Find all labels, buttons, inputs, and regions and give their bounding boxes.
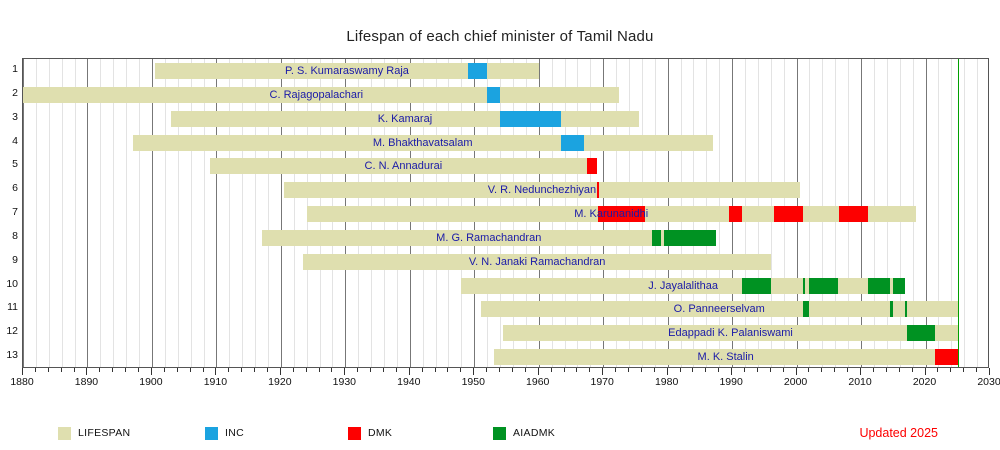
chart-row: O. Panneerselvam bbox=[23, 297, 988, 321]
term-segment-aiadmk[interactable] bbox=[664, 230, 716, 246]
lifespan-bar[interactable] bbox=[481, 301, 958, 317]
term-segment-dmk[interactable] bbox=[935, 349, 958, 365]
row-index-label: 12 bbox=[0, 325, 18, 337]
chart-row: Edappadi K. Palaniswami bbox=[23, 321, 988, 345]
lifespan-bar[interactable] bbox=[210, 158, 597, 174]
x-tick-minor bbox=[808, 368, 809, 372]
x-tick-major bbox=[667, 368, 668, 375]
x-tick-minor bbox=[370, 368, 371, 372]
x-tick-minor bbox=[61, 368, 62, 372]
chart-row: V. N. Janaki Ramachandran bbox=[23, 250, 988, 274]
x-tick-major bbox=[409, 368, 410, 375]
legend-swatch-icon bbox=[348, 427, 361, 440]
term-segment-dmk[interactable] bbox=[597, 182, 599, 198]
x-tick-minor bbox=[177, 368, 178, 372]
x-tick-minor bbox=[551, 368, 552, 372]
x-tick-label: 1890 bbox=[66, 376, 106, 388]
term-segment-inc[interactable] bbox=[487, 87, 500, 103]
x-tick-minor bbox=[357, 368, 358, 372]
legend-label: INC bbox=[225, 427, 244, 439]
x-tick-major bbox=[344, 368, 345, 375]
legend-label: LIFESPAN bbox=[78, 427, 130, 439]
term-segment-dmk[interactable] bbox=[587, 158, 597, 174]
lifespan-bar[interactable] bbox=[503, 325, 957, 341]
lifespan-bar[interactable] bbox=[303, 254, 770, 270]
marker-line-2025 bbox=[958, 59, 960, 367]
x-tick-major bbox=[796, 368, 797, 375]
x-tick-minor bbox=[628, 368, 629, 372]
legend-item-lifespan[interactable]: LIFESPAN bbox=[58, 424, 130, 442]
legend-swatch-icon bbox=[205, 427, 218, 440]
x-tick-minor bbox=[963, 368, 964, 372]
legend-label: AIADMK bbox=[513, 427, 555, 439]
x-axis bbox=[22, 368, 989, 376]
term-segment-inc[interactable] bbox=[561, 135, 584, 151]
x-tick-minor bbox=[241, 368, 242, 372]
term-segment-aiadmk[interactable] bbox=[905, 301, 908, 317]
term-segment-dmk[interactable] bbox=[729, 206, 742, 222]
x-tick-label: 2020 bbox=[905, 376, 945, 388]
x-tick-minor bbox=[525, 368, 526, 372]
row-index-label: 7 bbox=[0, 206, 18, 218]
x-tick-minor bbox=[615, 368, 616, 372]
x-tick-minor bbox=[138, 368, 139, 372]
term-segment-aiadmk[interactable] bbox=[890, 301, 893, 317]
x-tick-minor bbox=[950, 368, 951, 372]
x-tick-minor bbox=[705, 368, 706, 372]
term-segment-aiadmk[interactable] bbox=[907, 325, 934, 341]
x-tick-minor bbox=[267, 368, 268, 372]
x-tick-minor bbox=[847, 368, 848, 372]
row-index-label: 4 bbox=[0, 135, 18, 147]
x-tick-label: 1980 bbox=[647, 376, 687, 388]
x-tick-major bbox=[86, 368, 87, 375]
legend-label: DMK bbox=[368, 427, 392, 439]
term-segment-inc[interactable] bbox=[500, 111, 561, 127]
x-tick-minor bbox=[680, 368, 681, 372]
lifespan-bar[interactable] bbox=[22, 87, 619, 103]
x-tick-minor bbox=[899, 368, 900, 372]
x-tick-minor bbox=[576, 368, 577, 372]
x-tick-major bbox=[860, 368, 861, 375]
x-tick-minor bbox=[422, 368, 423, 372]
x-tick-label: 1900 bbox=[131, 376, 171, 388]
x-tick-minor bbox=[744, 368, 745, 372]
legend-swatch-icon bbox=[58, 427, 71, 440]
lifespan-bar[interactable] bbox=[133, 135, 713, 151]
lifespan-bar[interactable] bbox=[262, 230, 716, 246]
legend-item-dmk[interactable]: DMK bbox=[348, 424, 392, 442]
x-tick-minor bbox=[203, 368, 204, 372]
x-tick-major bbox=[473, 368, 474, 375]
term-segment-inc[interactable] bbox=[468, 63, 487, 79]
lifespan-gantt-chart: Lifespan of each chief minister of Tamil… bbox=[0, 0, 1000, 450]
x-tick-major bbox=[925, 368, 926, 375]
x-tick-major bbox=[280, 368, 281, 375]
x-tick-minor bbox=[435, 368, 436, 372]
x-tick-minor bbox=[873, 368, 874, 372]
chart-row: C. Rajagopalachari bbox=[23, 83, 988, 107]
x-tick-label: 2000 bbox=[776, 376, 816, 388]
x-tick-minor bbox=[396, 368, 397, 372]
x-tick-minor bbox=[447, 368, 448, 372]
x-tick-minor bbox=[35, 368, 36, 372]
lifespan-bar[interactable] bbox=[494, 349, 958, 365]
legend-swatch-icon bbox=[493, 427, 506, 440]
x-tick-major bbox=[731, 368, 732, 375]
x-tick-minor bbox=[718, 368, 719, 372]
chart-legend: LIFESPANINCDMKAIADMK bbox=[0, 424, 1000, 446]
x-tick-label: 1940 bbox=[389, 376, 429, 388]
x-tick-minor bbox=[654, 368, 655, 372]
x-tick-minor bbox=[589, 368, 590, 372]
x-tick-minor bbox=[48, 368, 49, 372]
legend-item-aiadmk[interactable]: AIADMK bbox=[493, 424, 555, 442]
x-tick-minor bbox=[383, 368, 384, 372]
chart-row: M. K. Stalin bbox=[23, 345, 988, 368]
x-tick-minor bbox=[499, 368, 500, 372]
x-tick-minor bbox=[331, 368, 332, 372]
chart-row: P. S. Kumaraswamy Raja bbox=[23, 59, 988, 83]
row-index-label: 13 bbox=[0, 349, 18, 361]
lifespan-bar[interactable] bbox=[171, 111, 638, 127]
x-tick-minor bbox=[125, 368, 126, 372]
x-tick-minor bbox=[937, 368, 938, 372]
x-tick-label: 2010 bbox=[840, 376, 880, 388]
x-tick-label: 1910 bbox=[195, 376, 235, 388]
x-tick-minor bbox=[306, 368, 307, 372]
x-tick-minor bbox=[834, 368, 835, 372]
term-segment-aiadmk[interactable] bbox=[868, 278, 891, 294]
term-segment-aiadmk[interactable] bbox=[803, 278, 805, 294]
x-tick-label: 1950 bbox=[453, 376, 493, 388]
x-tick-minor bbox=[770, 368, 771, 372]
row-index-label: 6 bbox=[0, 182, 18, 194]
x-tick-label: 2030 bbox=[969, 376, 1000, 388]
x-tick-minor bbox=[74, 368, 75, 372]
x-tick-minor bbox=[254, 368, 255, 372]
x-tick-minor bbox=[757, 368, 758, 372]
row-index-label: 1 bbox=[0, 63, 18, 75]
x-tick-major bbox=[602, 368, 603, 375]
row-index-label: 3 bbox=[0, 111, 18, 123]
chart-row: M. Bhakthavatsalam bbox=[23, 131, 988, 155]
x-tick-minor bbox=[99, 368, 100, 372]
x-tick-minor bbox=[821, 368, 822, 372]
x-tick-major bbox=[215, 368, 216, 375]
x-tick-label: 1960 bbox=[518, 376, 558, 388]
chart-title: Lifespan of each chief minister of Tamil… bbox=[0, 28, 1000, 45]
chart-row: V. R. Nedunchezhiyan bbox=[23, 178, 988, 202]
x-tick-minor bbox=[460, 368, 461, 372]
term-segment-aiadmk[interactable] bbox=[652, 230, 662, 246]
x-tick-minor bbox=[641, 368, 642, 372]
x-tick-minor bbox=[886, 368, 887, 372]
x-tick-minor bbox=[190, 368, 191, 372]
lifespan-bar[interactable] bbox=[284, 182, 800, 198]
term-segment-aiadmk[interactable] bbox=[893, 278, 905, 294]
row-index-label: 11 bbox=[0, 301, 18, 313]
legend-item-inc[interactable]: INC bbox=[205, 424, 244, 442]
row-index-label: 8 bbox=[0, 230, 18, 242]
chart-row: C. N. Annadurai bbox=[23, 154, 988, 178]
x-tick-minor bbox=[486, 368, 487, 372]
x-tick-minor bbox=[564, 368, 565, 372]
x-tick-minor bbox=[228, 368, 229, 372]
x-tick-minor bbox=[319, 368, 320, 372]
x-tick-major bbox=[22, 368, 23, 375]
row-index-label: 5 bbox=[0, 158, 18, 170]
x-axis-tick-labels: 1880189019001910192019301940195019601970… bbox=[0, 376, 1000, 390]
row-index-label: 10 bbox=[0, 278, 18, 290]
term-segment-dmk[interactable] bbox=[839, 206, 868, 222]
x-tick-minor bbox=[512, 368, 513, 372]
x-tick-label: 1930 bbox=[324, 376, 364, 388]
term-segment-dmk[interactable] bbox=[774, 206, 803, 222]
chart-row: M. G. Ramachandran bbox=[23, 226, 988, 250]
x-tick-minor bbox=[293, 368, 294, 372]
x-tick-label: 1920 bbox=[260, 376, 300, 388]
x-tick-major bbox=[538, 368, 539, 375]
plot-area: P. S. Kumaraswamy RajaC. Rajagopalachari… bbox=[22, 58, 989, 368]
row-index-label: 9 bbox=[0, 254, 18, 266]
term-segment-aiadmk[interactable] bbox=[809, 278, 838, 294]
x-tick-minor bbox=[976, 368, 977, 372]
row-index-label: 2 bbox=[0, 87, 18, 99]
chart-row: K. Kamaraj bbox=[23, 107, 988, 131]
x-tick-minor bbox=[164, 368, 165, 372]
term-segment-dmk[interactable] bbox=[598, 206, 645, 222]
x-tick-major bbox=[989, 368, 990, 375]
x-tick-label: 1880 bbox=[2, 376, 42, 388]
term-segment-aiadmk[interactable] bbox=[742, 278, 771, 294]
x-tick-major bbox=[151, 368, 152, 375]
chart-row: J. Jayalalithaa bbox=[23, 274, 988, 298]
updated-note: Updated 2025 bbox=[859, 426, 938, 440]
x-tick-label: 1970 bbox=[582, 376, 622, 388]
x-tick-minor bbox=[912, 368, 913, 372]
x-tick-label: 1990 bbox=[711, 376, 751, 388]
x-tick-minor bbox=[783, 368, 784, 372]
term-segment-aiadmk[interactable] bbox=[803, 301, 809, 317]
chart-row: M. Karunanidhi bbox=[23, 202, 988, 226]
x-tick-minor bbox=[692, 368, 693, 372]
x-tick-minor bbox=[112, 368, 113, 372]
